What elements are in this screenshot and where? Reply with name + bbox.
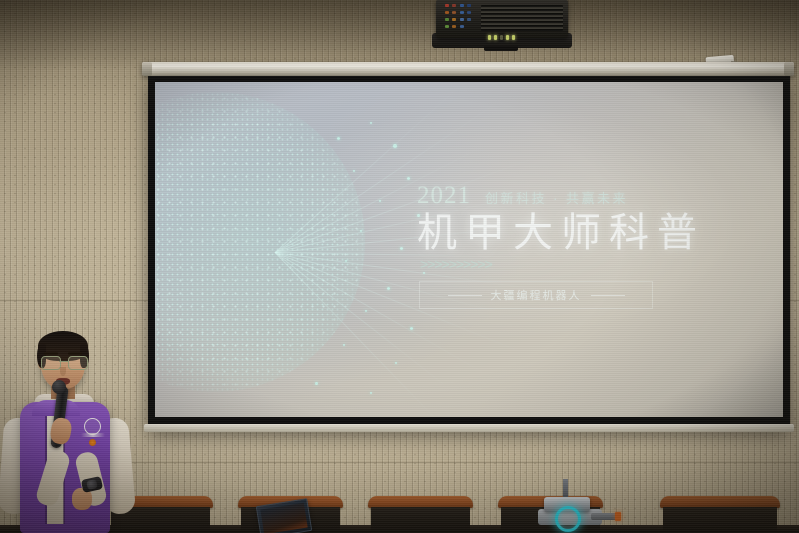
- photo-vignette: [0, 0, 799, 533]
- presentation-photo: 2021 创新科技 · 共赢未来 机甲大师科普 >>>>>>>>>> 大疆编程机…: [0, 0, 799, 533]
